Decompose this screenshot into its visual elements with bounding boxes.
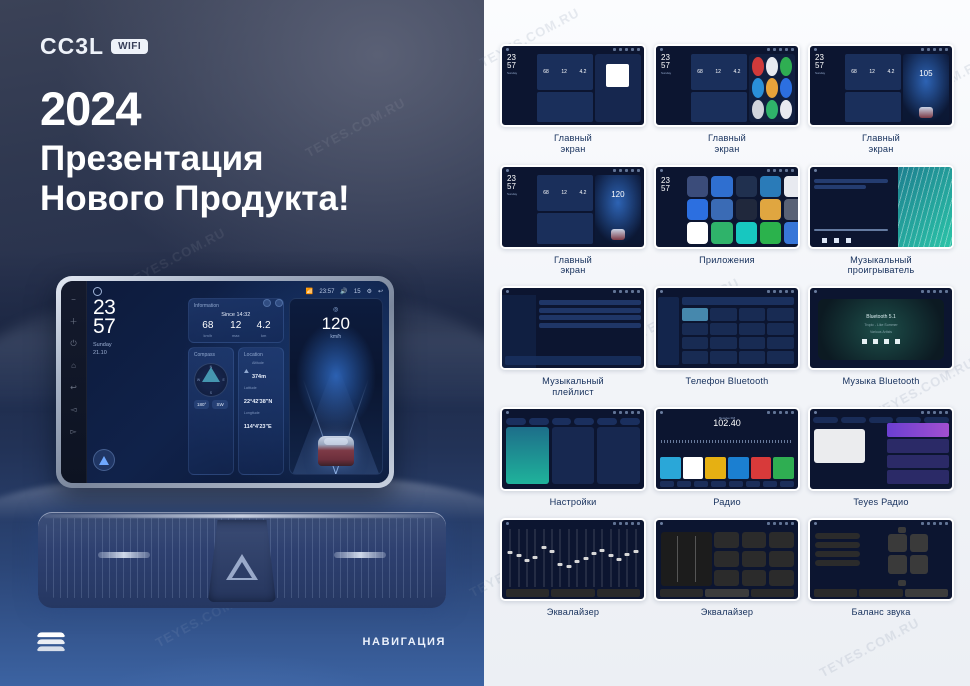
longitude-row: Longitude 114°4'23"E [244, 411, 278, 433]
thumb-clock-day: Sunday [815, 72, 843, 75]
dial-keypad[interactable] [682, 308, 794, 363]
preset-button[interactable] [714, 570, 739, 586]
status-icon [637, 169, 640, 172]
eq-band[interactable] [574, 529, 580, 587]
keypad-key[interactable] [682, 308, 709, 320]
keypad-key[interactable] [682, 351, 709, 363]
stat-item: 68 km/h [194, 321, 222, 338]
layers-icon [38, 631, 64, 653]
app-icon[interactable] [711, 176, 732, 197]
latitude-row: Latitude 22°42'38"N [244, 386, 278, 408]
eq-band[interactable] [524, 529, 530, 587]
gallery-item[interactable]: 2357Sunday68124.2Главныйэкран [654, 44, 800, 155]
eq-slider-knob[interactable] [583, 557, 588, 560]
radio-toolbar[interactable] [660, 481, 794, 487]
thumb-widgets: 68124.2 [537, 54, 593, 122]
list-item [539, 308, 641, 313]
gallery-item-label: Главныйэкран [554, 255, 592, 277]
tab-item[interactable] [620, 418, 640, 425]
stat-unit: max [222, 333, 250, 338]
status-icon [619, 290, 622, 293]
bluetooth-music-card: Bluetooth 5.1Tropic - Like SummerVarious… [818, 299, 944, 359]
thumb-stat: 12 [869, 69, 875, 75]
thumb-status-bar [656, 409, 798, 416]
balance-up-button[interactable] [898, 527, 906, 533]
visualizer-waves [898, 167, 952, 246]
keypad-key[interactable] [767, 308, 794, 320]
keypad-key[interactable] [767, 323, 794, 335]
gallery-item[interactable]: Музыкальныйпроигрыватель [808, 165, 954, 276]
gear-icon[interactable]: ⚙ [367, 288, 372, 295]
eq-band[interactable] [515, 529, 521, 587]
side-button-home-icon[interactable]: ⌂ [69, 361, 78, 370]
stat-item: 4.2 km [250, 321, 278, 338]
app-icon[interactable] [736, 222, 757, 243]
preset-row[interactable] [815, 551, 860, 557]
logo-text: CC3L [40, 33, 104, 60]
thumb-home-layout: 2357Sunday68124.2105 [813, 54, 949, 122]
thumbnail-teyes-radio[interactable] [808, 407, 954, 490]
radio-presets[interactable] [660, 457, 794, 479]
app-icon[interactable] [752, 78, 764, 97]
stop-icon[interactable] [884, 339, 889, 344]
home-icon [660, 522, 663, 525]
status-icon [767, 411, 770, 414]
fader-track[interactable] [695, 536, 696, 582]
app-icon[interactable] [784, 176, 800, 197]
information-card[interactable]: Information Since 14:32 68 km/h [188, 298, 284, 343]
keypad-key[interactable] [739, 337, 766, 349]
keypad-key[interactable] [710, 337, 737, 349]
side-button-prev-icon[interactable]: ◅ [69, 405, 78, 414]
compass-label-n: N [210, 365, 213, 369]
app-icon[interactable] [766, 100, 778, 119]
preset-tile[interactable] [751, 457, 772, 479]
home-icon [814, 290, 817, 293]
status-icon [785, 522, 788, 525]
page-title-year: 2024 [40, 85, 141, 132]
app-icon[interactable] [760, 176, 781, 197]
status-icon [933, 290, 936, 293]
tab-item [859, 589, 902, 597]
layer-mid [36, 639, 65, 644]
gallery-item[interactable]: Телефон Bluetooth [654, 286, 800, 397]
preset-row[interactable] [815, 560, 860, 566]
dial-input[interactable] [682, 297, 794, 305]
preset-tile[interactable] [773, 457, 794, 479]
preset-button[interactable] [714, 551, 739, 567]
toolbar-button[interactable] [746, 481, 760, 487]
thumb-clock-day: Sunday [507, 72, 535, 75]
tab-item[interactable] [574, 418, 594, 425]
thumbnail-settings[interactable] [500, 407, 646, 490]
progress-bar[interactable] [814, 229, 888, 231]
gallery-item[interactable]: Эквалайзер [500, 518, 646, 618]
status-icon [945, 290, 948, 293]
thumbnail-sound-balance[interactable] [808, 518, 954, 601]
thumb-information-card: 68124.2 [691, 54, 747, 90]
eq-band[interactable] [608, 529, 614, 587]
eq-slider-knob[interactable] [541, 546, 546, 549]
app-icon[interactable] [736, 176, 757, 197]
preset-button[interactable] [714, 532, 739, 548]
carplay-card[interactable] [552, 427, 595, 483]
toolbar-button[interactable] [780, 481, 794, 487]
gallery-item[interactable]: Receive FM102.40Радио [654, 407, 800, 507]
head-unit-display[interactable]: 📶 23:57 🔊 15 ⚙ ↩ 23 57 S [87, 281, 389, 483]
fader-track[interactable] [677, 536, 678, 582]
thumbnail-radio[interactable]: Receive FM102.40 [654, 407, 800, 490]
balance-pad[interactable] [888, 534, 928, 574]
clock-minutes: 57 [93, 317, 183, 336]
preset-button[interactable] [742, 532, 767, 548]
status-icons [767, 169, 794, 172]
thumbnail-home-speed-105[interactable]: 2357Sunday68124.2105 [808, 44, 954, 127]
playlist-rows[interactable] [539, 300, 641, 328]
status-icon [785, 48, 788, 51]
side-button-next-icon[interactable]: ▻ [69, 427, 78, 436]
eq-slider-knob[interactable] [600, 549, 605, 552]
speed-icon: ◎ [333, 306, 338, 313]
thumbnail-music-player[interactable] [808, 165, 954, 248]
status-icon [625, 522, 628, 525]
app-icon[interactable] [711, 199, 732, 220]
tab-item [751, 589, 794, 597]
location-card[interactable]: Location ⛰ Altitude 374m [238, 347, 284, 475]
eq-slider-knob[interactable] [617, 558, 622, 561]
status-icon [779, 411, 782, 414]
thumb-status-bar [810, 520, 952, 527]
altitude-value: 374m [252, 374, 266, 380]
hazard-light-button[interactable] [208, 520, 276, 602]
toolbar-button[interactable] [660, 481, 674, 487]
thumb-status-bar [656, 167, 798, 174]
station-list[interactable] [887, 423, 949, 483]
status-icon [637, 411, 640, 414]
eq-band[interactable] [599, 529, 605, 587]
eq-slider-knob[interactable] [508, 551, 513, 554]
app-icon[interactable] [766, 78, 778, 97]
eq-band[interactable] [566, 529, 572, 587]
preset-button[interactable] [742, 570, 767, 586]
app-icon[interactable] [760, 199, 781, 220]
status-icon [613, 48, 616, 51]
app-icon[interactable] [687, 176, 708, 197]
mini-player-bar[interactable] [505, 356, 641, 365]
preset-tile[interactable] [728, 457, 749, 479]
eq-band[interactable] [557, 529, 563, 587]
thumb-status-bar [502, 167, 644, 174]
page-title-line2: Нового Продукта! [40, 180, 350, 218]
status-icon [945, 411, 948, 414]
app-icon[interactable] [780, 57, 792, 76]
tab-item[interactable] [552, 418, 572, 425]
toolbar-button[interactable] [763, 481, 777, 487]
compass-direction: SW [212, 400, 228, 409]
app-icon[interactable] [687, 222, 708, 243]
status-bar: 📶 23:57 🔊 15 ⚙ ↩ [93, 285, 383, 298]
side-button-power-icon[interactable]: ⏻ [69, 339, 78, 348]
equalizer-tabs[interactable] [660, 589, 794, 597]
thumb-status-bar [810, 46, 952, 53]
app-icon[interactable] [687, 199, 708, 220]
status-icon [631, 411, 634, 414]
eq-slider-knob[interactable] [516, 554, 521, 557]
status-icon [613, 169, 616, 172]
keypad-key[interactable] [739, 351, 766, 363]
clock-date: 21.10 [93, 350, 183, 357]
settings-tabs[interactable] [506, 418, 640, 425]
status-icon [921, 48, 924, 51]
stat-unit: km/h [194, 333, 222, 338]
tab-item[interactable] [841, 417, 866, 423]
preset-row[interactable] [815, 533, 860, 539]
head-unit-side-buttons[interactable]: − ＋ ⏻ ⌂ ↩ ◅ ▻ [61, 281, 87, 483]
side-button-minus-icon[interactable]: − [69, 295, 78, 304]
compass-cone [202, 367, 220, 382]
prev-icon[interactable] [862, 339, 867, 344]
gallery-item[interactable]: Эквалайзер [654, 518, 800, 618]
toolbar-button[interactable] [729, 481, 743, 487]
thumbnail-home-speed-120[interactable]: 2357Sunday68124.2120 [500, 165, 646, 248]
home-icon [660, 411, 663, 414]
play-pause-icon[interactable] [834, 238, 839, 243]
navigation-arrow-icon[interactable] [93, 449, 115, 471]
home-icon [506, 48, 509, 51]
gallery-item-label: Настройки [550, 497, 597, 508]
thumbnail-bt-music[interactable]: Bluetooth 5.1Tropic - Like SummerVarious… [808, 286, 954, 369]
preset-grid[interactable] [714, 532, 794, 586]
thumbnail-equalizer-simple[interactable] [654, 518, 800, 601]
app-icon[interactable] [766, 57, 778, 76]
preset-button[interactable] [769, 532, 794, 548]
tab-item[interactable] [529, 418, 549, 425]
toolbar-button[interactable] [711, 481, 725, 487]
keypad-key[interactable] [682, 337, 709, 349]
footer-label: НАВИГАЦИЯ [363, 636, 446, 648]
thumbnail-equalizer-bands[interactable] [500, 518, 646, 601]
list-item [887, 439, 949, 453]
app-icon[interactable] [780, 100, 792, 119]
latitude-value: 22°42'38"N [244, 399, 272, 405]
status-icons [613, 48, 640, 51]
car-model-visual [318, 436, 354, 466]
clock-widget[interactable]: 23 57 Sunday 21.10 [93, 298, 183, 475]
app-drawer-grid [687, 176, 795, 243]
thumb-compass-card [691, 92, 747, 122]
preset-button[interactable] [769, 570, 794, 586]
eq-band[interactable] [532, 529, 538, 587]
eq-slider-knob[interactable] [625, 553, 630, 556]
toolbar-button[interactable] [677, 481, 691, 487]
eq-band[interactable] [549, 529, 555, 587]
keypad-key[interactable] [739, 308, 766, 320]
back-arrow-icon[interactable]: ↩ [378, 288, 383, 295]
eq-slider-knob[interactable] [591, 552, 596, 555]
keypad-key[interactable] [710, 308, 737, 320]
app-icon[interactable] [784, 222, 800, 243]
eq-slider-knob[interactable] [524, 559, 529, 562]
home-icon [814, 48, 817, 51]
tab-item[interactable] [597, 418, 617, 425]
status-icons [921, 48, 948, 51]
eq-slider-knob[interactable] [633, 550, 638, 553]
information-actions[interactable] [263, 299, 283, 307]
tab-item [705, 589, 748, 597]
home-icon [506, 169, 509, 172]
eq-slider-knob[interactable] [550, 550, 555, 553]
balance-tabs[interactable] [814, 589, 948, 597]
eq-slider-knob[interactable] [566, 565, 571, 568]
status-icon [773, 48, 776, 51]
home-icon[interactable] [93, 287, 102, 296]
eq-band[interactable] [633, 529, 639, 587]
play-pause-icon[interactable] [873, 339, 878, 344]
thumbnail-home-media[interactable]: 2357Sunday68124.2 [500, 44, 646, 127]
gallery-item[interactable]: Баланс звука [808, 518, 954, 618]
status-icon [921, 522, 924, 525]
eq-slider-knob[interactable] [575, 560, 580, 563]
gallery-item[interactable]: Настройки [500, 407, 646, 507]
app-icon[interactable] [752, 100, 764, 119]
thumb-speed-value: 120 [595, 190, 641, 199]
next-icon[interactable] [895, 339, 900, 344]
status-icons [613, 411, 640, 414]
gallery-item[interactable]: 2357Приложения [654, 165, 800, 276]
eq-slider-knob[interactable] [558, 563, 563, 566]
frequency-scale[interactable] [661, 440, 793, 443]
preset-button[interactable] [769, 551, 794, 567]
thumbnail-apps[interactable]: 2357 [654, 165, 800, 248]
gallery-item[interactable]: 2357Sunday68124.2105Главныйэкран [808, 44, 954, 155]
preset-row[interactable] [815, 542, 860, 548]
keypad-key[interactable] [739, 323, 766, 335]
thumb-media-panel [595, 54, 641, 122]
thumbnail-music-playlist[interactable] [500, 286, 646, 369]
hero-panel: TEYES.COM.RU TEYES.COM.RU TEYES.COM.RU C… [0, 0, 484, 686]
keypad-key[interactable] [710, 323, 737, 335]
status-icon [945, 48, 948, 51]
keypad-key[interactable] [710, 351, 737, 363]
watermark: TEYES.COM.RU [817, 615, 922, 680]
screenshot-gallery: TEYES.COM.RU TEYES.COM.RU TEYES.COM.RU T… [484, 0, 970, 686]
status-indicators: 📶 23:57 🔊 15 ⚙ ↩ [306, 288, 383, 295]
prev-icon[interactable] [822, 238, 827, 243]
thumb-clock: 2357Sunday [505, 54, 535, 122]
gallery-item-label: Эквалайзер [701, 607, 753, 618]
settings-cards[interactable] [506, 427, 640, 483]
status-icon [773, 411, 776, 414]
volume-icon: 🔊 [340, 288, 347, 295]
gallery-item[interactable]: 2357Sunday68124.2120Главныйэкран [500, 165, 646, 276]
tab-item[interactable] [813, 417, 838, 423]
side-button-plus-icon[interactable]: ＋ [69, 317, 78, 326]
wifi-card[interactable] [506, 427, 549, 483]
bluetooth-controls[interactable] [862, 339, 900, 344]
app-icon[interactable] [736, 199, 757, 220]
player-controls[interactable] [822, 238, 851, 243]
eq-band[interactable] [582, 529, 588, 587]
status-icon [619, 522, 622, 525]
expand-icon[interactable] [275, 299, 283, 307]
status-icon [785, 411, 788, 414]
tab-item[interactable] [506, 418, 526, 425]
logo-wifi-badge: WIFI [111, 39, 148, 54]
status-icon [625, 290, 628, 293]
list-item [887, 423, 949, 437]
eq-slider-knob[interactable] [608, 554, 613, 557]
thumbnail-home-apps[interactable]: 2357Sunday68124.2 [654, 44, 800, 127]
preset-tile[interactable] [683, 457, 704, 479]
compass-card[interactable]: Compass N E S W 180° [188, 347, 234, 475]
toolbar-button[interactable] [694, 481, 708, 487]
status-icons [767, 48, 794, 51]
gallery-item[interactable]: 2357Sunday68124.2Главныйэкран [500, 44, 646, 155]
thumb-status-bar [656, 46, 798, 53]
eq-band[interactable] [616, 529, 622, 587]
gallery-item-label: Баланс звука [851, 607, 910, 618]
balance-presets[interactable] [815, 533, 860, 566]
lower-widgets-row: Compass N E S W 180° [188, 347, 284, 475]
gallery-item[interactable]: Bluetooth 5.1Tropic - Like SummerVarious… [808, 286, 954, 397]
equalizer-bands[interactable] [507, 529, 639, 587]
thumb-stat: 4.2 [888, 69, 895, 75]
app-icon[interactable] [760, 222, 781, 243]
gallery-item[interactable]: Teyes Радио [808, 407, 954, 507]
refresh-icon[interactable] [263, 299, 271, 307]
balance-down-button[interactable] [898, 580, 906, 586]
status-icon [791, 290, 794, 293]
keypad-key[interactable] [682, 323, 709, 335]
app-icon[interactable] [784, 199, 800, 220]
app-icon[interactable] [780, 78, 792, 97]
phone-sidebar[interactable] [658, 297, 679, 364]
status-icon [767, 290, 770, 293]
keypad-key[interactable] [767, 351, 794, 363]
side-button-back-icon[interactable]: ↩ [69, 383, 78, 392]
eq-band[interactable] [624, 529, 630, 587]
next-icon[interactable] [846, 238, 851, 243]
preset-button[interactable] [742, 551, 767, 567]
eq-band[interactable] [507, 529, 513, 587]
more-card[interactable] [597, 427, 640, 483]
equalizer-tabs[interactable] [506, 589, 640, 597]
preset-tile[interactable] [705, 457, 726, 479]
status-icon [779, 48, 782, 51]
tab-item [814, 589, 857, 597]
compass-label-w: W [197, 378, 200, 382]
information-since: Since 14:32 [194, 312, 278, 318]
thumbnail-bt-phone[interactable] [654, 286, 800, 369]
speed-widget[interactable]: ◎ 120 km/h [289, 298, 383, 475]
status-icons [767, 411, 794, 414]
keypad-key[interactable] [767, 337, 794, 349]
app-icon[interactable] [711, 222, 732, 243]
preset-tile[interactable] [660, 457, 681, 479]
presentation-slide: TEYES.COM.RU TEYES.COM.RU TEYES.COM.RU C… [0, 0, 970, 686]
home-icon [506, 290, 509, 293]
eq-slider-knob[interactable] [533, 556, 538, 559]
eq-band[interactable] [591, 529, 597, 587]
status-icons [613, 290, 640, 293]
layer-bottom [36, 646, 65, 651]
fader-panel[interactable] [661, 532, 712, 586]
gallery-item[interactable]: Музыкальныйплейлист [500, 286, 646, 397]
list-item [539, 300, 641, 305]
eq-band[interactable] [541, 529, 547, 587]
list-item [539, 323, 641, 328]
app-icon[interactable] [752, 57, 764, 76]
